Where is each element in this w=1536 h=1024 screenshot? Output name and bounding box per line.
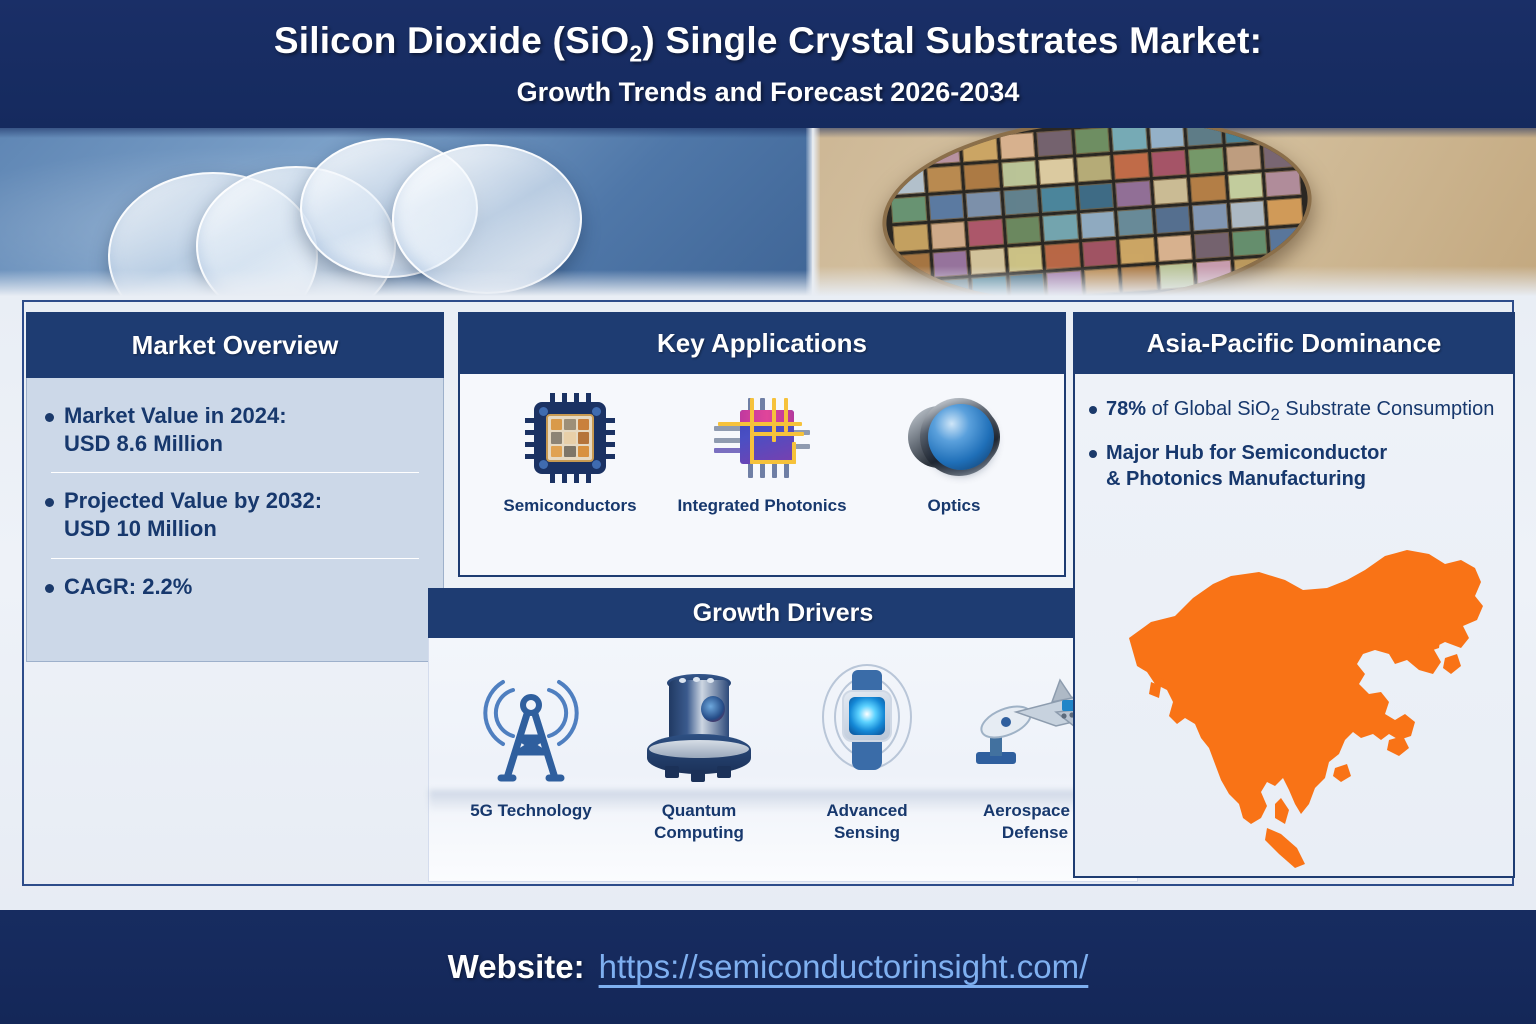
photonic-chip-icon [714,392,810,484]
list-item: 78% of Global SiO2 Substrate Consumption [1089,396,1499,426]
market-value-2024: Market Value in 2024:USD 8.6 Million [64,402,287,458]
footer-bar: Website: https://semiconductorinsight.co… [0,910,1536,1024]
asia-pacific-heading: Asia-Pacific Dominance [1073,312,1515,374]
driver-label: QuantumComputing [654,800,744,844]
list-item: Market Value in 2024:USD 8.6 Million [45,402,425,458]
application-label: Optics [928,496,981,516]
website-url[interactable]: https://semiconductorinsight.com/ [599,948,1089,986]
title-bar: Silicon Dioxide (SiO2) Single Crystal Su… [0,0,1536,128]
driver-label: Aerospace &Defense [983,800,1087,844]
divider [51,472,419,473]
application-item-integrated-photonics: Integrated Photonics [672,392,852,516]
bullet-icon [1089,450,1097,458]
page-title: Silicon Dioxide (SiO2) Single Crystal Su… [274,20,1262,67]
application-item-optics: Optics [864,392,1044,516]
hero-strip [0,128,1536,296]
application-label: Semiconductors [503,496,636,516]
page-subtitle: Growth Trends and Forecast 2026-2034 [517,77,1020,108]
bullet-icon [45,498,54,507]
market-overview-panel: Market Overview Market Value in 2024:USD… [26,312,444,662]
growth-drivers-panel: Growth Drivers [428,588,1138,882]
consumption-share: 78% of Global SiO2 Substrate Consumption [1106,396,1494,426]
application-label: Integrated Photonics [677,496,846,516]
list-item: CAGR: 2.2% [45,573,425,601]
application-item-semiconductors: Semiconductors [480,392,660,516]
lens-sphere-icon [908,392,1000,484]
list-item: Major Hub for Semiconductor& Photonics M… [1089,440,1499,492]
driver-item-5g: 5G Technology [456,646,606,844]
growth-drivers-body: 5G Technology [428,638,1138,882]
bullet-icon [1089,406,1097,414]
list-item: Projected Value by 2032:USD 10 Million [45,487,425,543]
asia-map-icon [1089,542,1501,872]
asia-pacific-body: 78% of Global SiO2 Substrate Consumption… [1073,374,1515,878]
website-label: Website: [448,948,585,986]
key-applications-heading: Key Applications [458,312,1066,374]
bullet-icon [45,584,54,593]
manufacturing-hub: Major Hub for Semiconductor& Photonics M… [1106,440,1387,492]
quantum-computer-icon [639,646,759,786]
asia-pacific-panel: Asia-Pacific Dominance 78% of Global SiO… [1073,312,1515,878]
divider [51,558,419,559]
driver-label: AdvancedSensing [826,800,907,844]
smart-sensor-icon [812,646,922,786]
market-overview-heading: Market Overview [26,312,444,378]
driver-label: 5G Technology [470,800,592,822]
market-overview-body: Market Value in 2024:USD 8.6 Million Pro… [26,378,444,662]
bullet-icon [45,413,54,422]
cagr-value: CAGR: 2.2% [64,573,192,601]
driver-item-quantum-computing: QuantumComputing [624,646,774,844]
driver-item-advanced-sensing: AdvancedSensing [792,646,942,844]
cell-tower-icon [477,646,585,786]
projected-value-2032: Projected Value by 2032:USD 10 Million [64,487,322,543]
key-applications-body: Semiconductors [458,374,1066,577]
wafer-image [812,128,1536,296]
key-applications-panel: Key Applications [458,312,1066,577]
quartz-discs-image [0,128,812,296]
growth-drivers-heading: Growth Drivers [428,588,1138,638]
microchip-icon [534,392,606,484]
